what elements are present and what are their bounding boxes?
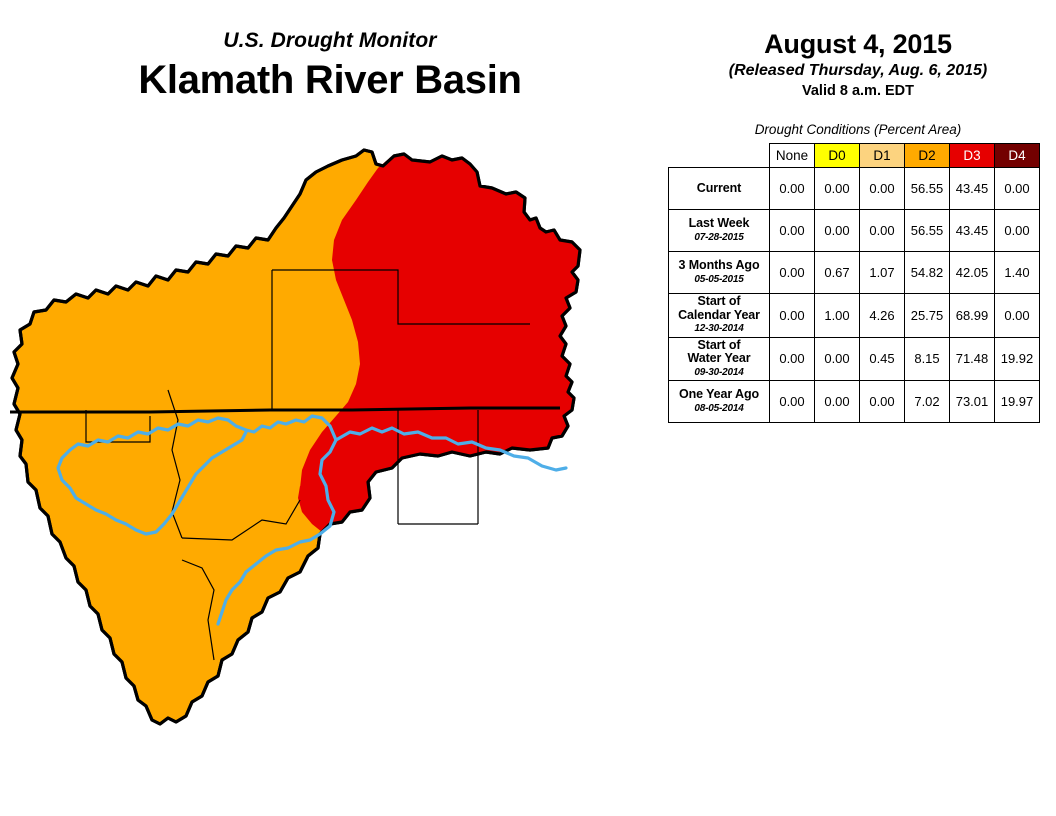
column-header-d4: D4: [995, 144, 1040, 168]
cell-d0: 0.67: [815, 252, 860, 294]
cell-d4: 19.97: [995, 381, 1040, 423]
cell-d4: 19.92: [995, 337, 1040, 381]
report-date: August 4, 2015: [660, 28, 1056, 60]
cell-none: 0.00: [770, 210, 815, 252]
map-svg[interactable]: [0, 120, 660, 810]
cell-d1: 0.00: [860, 210, 905, 252]
row-label-name: 3 Months Ago: [672, 259, 766, 273]
column-header-d1: D1: [860, 144, 905, 168]
row-label-date: 08-05-2014: [672, 402, 766, 416]
map-title-block: U.S. Drought Monitor Klamath River Basin: [0, 28, 660, 104]
cell-d0: 0.00: [815, 337, 860, 381]
table-row: Start ofWater Year09-30-20140.000.000.45…: [669, 337, 1040, 381]
cell-d4: 0.00: [995, 294, 1040, 338]
map-main-title: Klamath River Basin: [0, 56, 660, 104]
valid-time: Valid 8 a.m. EDT: [660, 81, 1056, 101]
cell-d2: 56.55: [905, 168, 950, 210]
row-label-date: 05-05-2015: [672, 273, 766, 287]
row-label-name: Start of: [672, 295, 766, 309]
column-header-d0: D0: [815, 144, 860, 168]
cell-d3: 71.48: [950, 337, 995, 381]
cell-d1: 0.00: [860, 381, 905, 423]
cell-none: 0.00: [770, 168, 815, 210]
row-label: Start ofWater Year09-30-2014: [669, 337, 770, 381]
row-label-name: Calendar Year: [672, 309, 766, 323]
cell-d1: 4.26: [860, 294, 905, 338]
cell-d2: 8.15: [905, 337, 950, 381]
row-label-name: Last Week: [672, 217, 766, 231]
cell-d3: 43.45: [950, 168, 995, 210]
column-header-none: None: [770, 144, 815, 168]
cell-d0: 0.00: [815, 168, 860, 210]
cell-none: 0.00: [770, 294, 815, 338]
cell-d0: 1.00: [815, 294, 860, 338]
table-row: Last Week07-28-20150.000.000.0056.5543.4…: [669, 210, 1040, 252]
row-label: Current: [669, 168, 770, 210]
cell-d3: 42.05: [950, 252, 995, 294]
row-label: 3 Months Ago05-05-2015: [669, 252, 770, 294]
row-label-date: 12-30-2014: [672, 322, 766, 336]
table-body: Current0.000.000.0056.5543.450.00Last We…: [669, 168, 1040, 423]
table-row: One Year Ago08-05-20140.000.000.007.0273…: [669, 381, 1040, 423]
cell-d4: 0.00: [995, 210, 1040, 252]
row-label-name: One Year Ago: [672, 388, 766, 402]
cell-none: 0.00: [770, 252, 815, 294]
cell-d2: 7.02: [905, 381, 950, 423]
row-label-name: Water Year: [672, 352, 766, 366]
cell-d1: 0.00: [860, 168, 905, 210]
date-block: August 4, 2015 (Released Thursday, Aug. …: [660, 28, 1056, 101]
cell-d2: 25.75: [905, 294, 950, 338]
row-label-date: 09-30-2014: [672, 366, 766, 380]
right-panel: August 4, 2015 (Released Thursday, Aug. …: [660, 0, 1056, 816]
drought-conditions-table: None D0 D1 D2 D3 D4 Current0.000.000.005…: [668, 143, 1040, 423]
column-header-d2: D2: [905, 144, 950, 168]
table-row: Current0.000.000.0056.5543.450.00: [669, 168, 1040, 210]
row-label: One Year Ago08-05-2014: [669, 381, 770, 423]
cell-d2: 54.82: [905, 252, 950, 294]
drought-map[interactable]: [0, 120, 660, 810]
cell-d0: 0.00: [815, 381, 860, 423]
table-caption: Drought Conditions (Percent Area): [660, 122, 1056, 137]
cell-d3: 43.45: [950, 210, 995, 252]
row-label: Last Week07-28-2015: [669, 210, 770, 252]
table-header-row: None D0 D1 D2 D3 D4: [669, 144, 1040, 168]
map-panel: U.S. Drought Monitor Klamath River Basin: [0, 0, 660, 816]
row-label: Start ofCalendar Year12-30-2014: [669, 294, 770, 338]
cell-d3: 73.01: [950, 381, 995, 423]
row-label-date: 07-28-2015: [672, 231, 766, 245]
cell-d2: 56.55: [905, 210, 950, 252]
cell-d0: 0.00: [815, 210, 860, 252]
table-row: Start ofCalendar Year12-30-20140.001.004…: [669, 294, 1040, 338]
row-label-name: Start of: [672, 339, 766, 353]
row-label-name: Current: [672, 182, 766, 196]
release-date: (Released Thursday, Aug. 6, 2015): [660, 60, 1056, 81]
cell-d3: 68.99: [950, 294, 995, 338]
cell-none: 0.00: [770, 337, 815, 381]
table-row: 3 Months Ago05-05-20150.000.671.0754.824…: [669, 252, 1040, 294]
cell-d1: 0.45: [860, 337, 905, 381]
column-header-d3: D3: [950, 144, 995, 168]
cell-d4: 0.00: [995, 168, 1040, 210]
cell-none: 0.00: [770, 381, 815, 423]
cell-d4: 1.40: [995, 252, 1040, 294]
map-super-title: U.S. Drought Monitor: [0, 28, 660, 54]
table-corner-cell: [669, 144, 770, 168]
cell-d1: 1.07: [860, 252, 905, 294]
